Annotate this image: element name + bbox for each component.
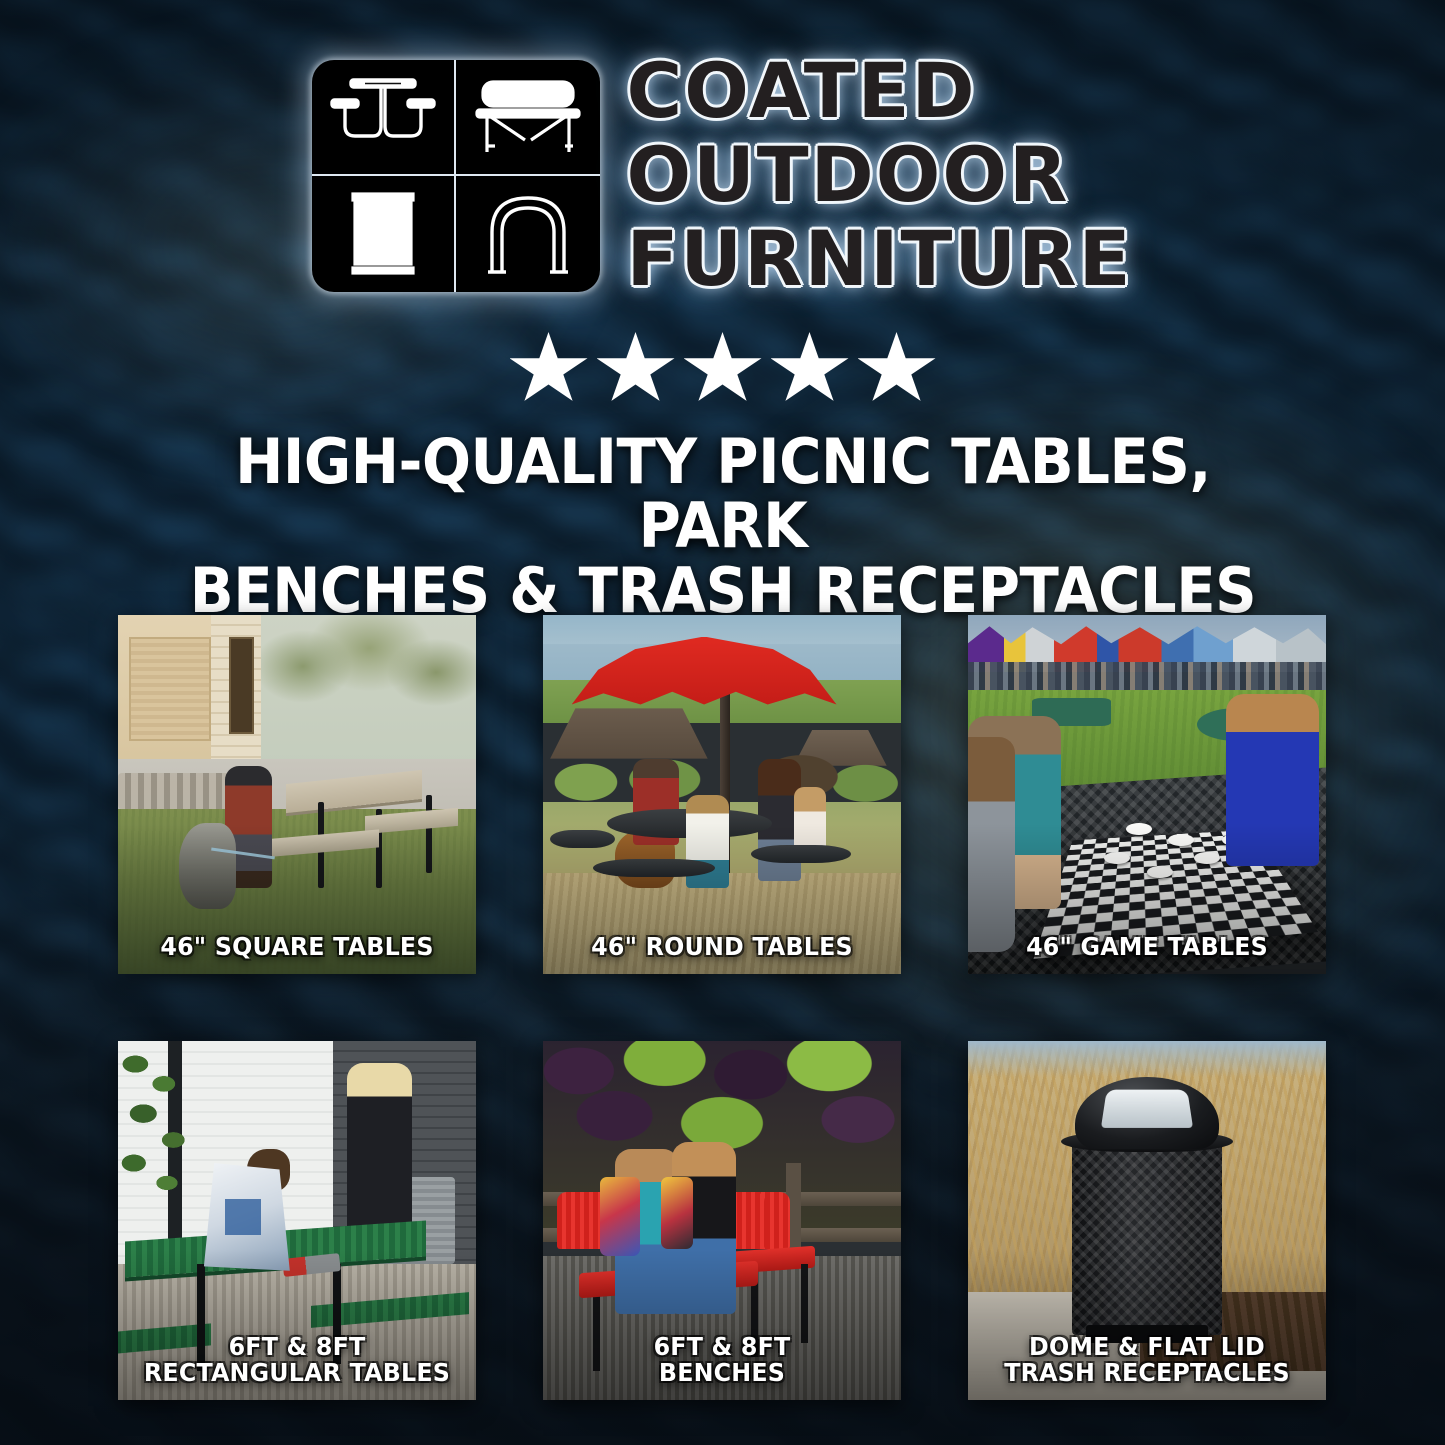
headline: HIGH-QUALITY PICNIC TABLES, PARK BENCHES… [98,430,1348,623]
star-icon [597,332,675,406]
product-tile-rectangular-tables[interactable]: 6FT & 8FT RECTANGULAR TABLES [118,1041,476,1400]
product-grid: 46" SQUARE TABLES [118,615,1326,1400]
product-caption: DOME & FLAT LID TRASH RECEPTACLES [968,1334,1326,1386]
product-tile-round-tables[interactable]: 46" ROUND TABLES [543,615,901,974]
brand-line-1: COATED [626,56,1132,126]
product-caption: 46" ROUND TABLES [543,934,901,960]
star-icon [858,332,936,406]
product-photo [543,615,901,974]
star-rating [0,332,1445,406]
brand-logo: COATED OUTDOOR FURNITURE [0,60,1445,294]
brand-line-2: OUTDOOR [626,140,1132,210]
caption-line: 46" ROUND TABLES [552,934,892,960]
star-icon [684,332,762,406]
product-caption: 46" SQUARE TABLES [118,934,476,960]
star-icon [771,332,849,406]
caption-line: BENCHES [552,1360,892,1386]
product-caption: 6FT & 8FT RECTANGULAR TABLES [118,1334,476,1386]
caption-line: RECTANGULAR TABLES [127,1360,467,1386]
product-tile-trash-receptacles[interactable]: DOME & FLAT LID TRASH RECEPTACLES [968,1041,1326,1400]
star-icon [510,332,588,406]
headline-line-1: HIGH-QUALITY PICNIC TABLES, PARK [141,430,1304,559]
product-tile-game-tables[interactable]: 46" GAME TABLES [968,615,1326,974]
product-tile-square-tables[interactable]: 46" SQUARE TABLES [118,615,476,974]
bike-rack-icon [456,176,600,292]
product-caption: 6FT & 8FT BENCHES [543,1334,901,1386]
caption-line: 46" SQUARE TABLES [127,934,467,960]
picnic-table-icon [312,60,456,176]
brand-wordmark: COATED OUTDOOR FURNITURE [626,56,1132,294]
headline-line-2: BENCHES & TRASH RECEPTACLES [141,559,1304,623]
product-caption: 46" GAME TABLES [968,934,1326,960]
caption-line: DOME & FLAT LID [977,1334,1317,1360]
product-photo [968,615,1326,974]
product-tile-benches[interactable]: 6FT & 8FT BENCHES [543,1041,901,1400]
brand-line-3: FURNITURE [626,224,1132,294]
logo-icon-grid [312,60,600,292]
caption-line: 6FT & 8FT [127,1334,467,1360]
ad-banner: COATED OUTDOOR FURNITURE HIGH-QUALITY PI… [0,0,1445,1445]
caption-line: 6FT & 8FT [552,1334,892,1360]
trash-receptacle-icon [312,176,456,292]
product-photo [118,615,476,974]
caption-line: TRASH RECEPTACLES [977,1360,1317,1386]
bench-table-icon [456,60,600,176]
caption-line: 46" GAME TABLES [977,934,1317,960]
